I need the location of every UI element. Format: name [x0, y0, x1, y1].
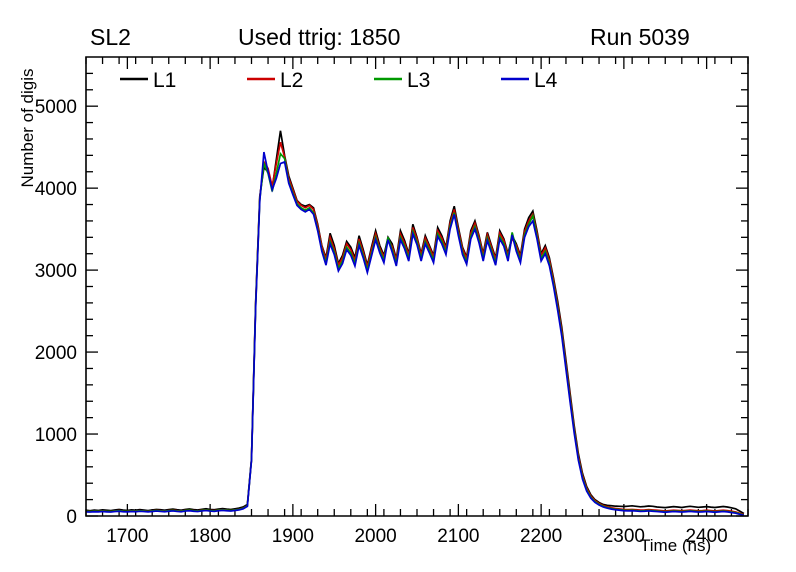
legend: L1L2L3L4 — [120, 69, 558, 92]
x-axis-ticks: 17001800190020002100220023002400 — [86, 57, 748, 547]
x-tick-label: 1900 — [272, 526, 314, 547]
series-line-l4 — [86, 152, 744, 515]
plot-svg: 010002000300040005000 170018001900200021… — [0, 0, 796, 572]
series-lines — [86, 131, 744, 516]
x-tick-label: 2300 — [603, 526, 645, 547]
series-line-l3 — [86, 154, 744, 515]
series-line-l2 — [86, 142, 744, 514]
legend-label-l3: L3 — [407, 69, 430, 92]
legend-label-l2: L2 — [280, 69, 303, 92]
x-tick-label: 2000 — [354, 526, 396, 547]
y-tick-label: 3000 — [35, 261, 77, 282]
legend-label-l4: L4 — [534, 69, 558, 92]
y-tick-label: 2000 — [35, 343, 77, 364]
x-tick-label: 2100 — [437, 526, 479, 547]
y-tick-label: 5000 — [35, 97, 77, 118]
plot-frame — [86, 57, 748, 516]
x-tick-label: 1800 — [189, 526, 231, 547]
series-line-l1 — [86, 131, 744, 514]
y-tick-label: 4000 — [35, 179, 77, 200]
plot-canvas: SL2 Used ttrig: 1850 Run 5039 Number of … — [0, 0, 796, 572]
x-tick-label: 2200 — [520, 526, 562, 547]
y-tick-label: 0 — [66, 507, 77, 528]
x-tick-label: 1700 — [106, 526, 148, 547]
y-tick-label: 1000 — [35, 425, 77, 446]
y-axis-ticks: 010002000300040005000 — [35, 73, 748, 528]
legend-label-l1: L1 — [153, 69, 176, 92]
x-tick-label: 2400 — [685, 526, 727, 547]
